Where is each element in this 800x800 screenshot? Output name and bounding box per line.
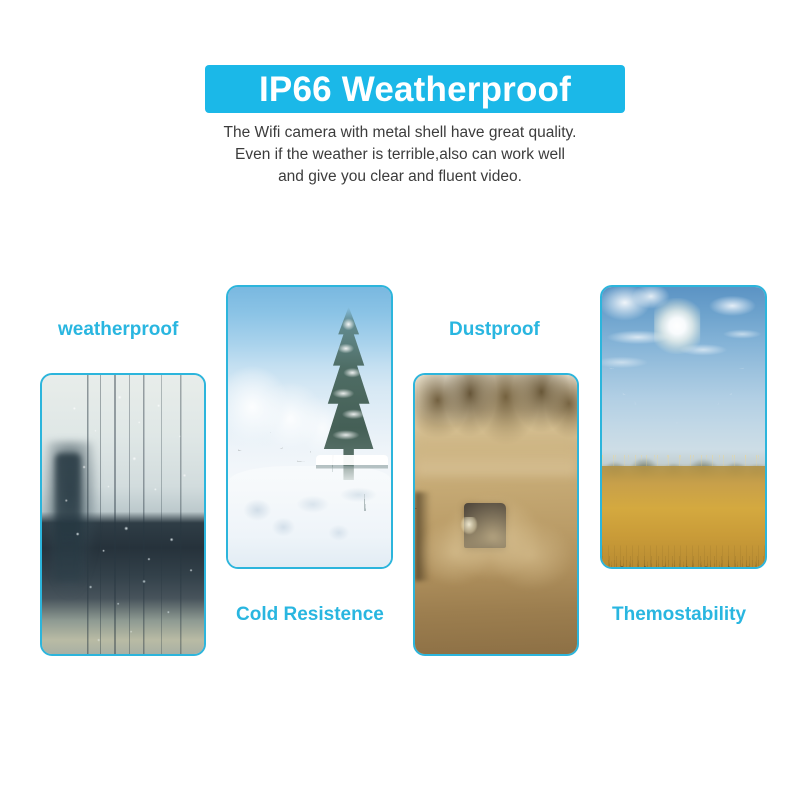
subtitle-line-3: and give you clear and fluent video. (160, 166, 640, 188)
feature-label-cold-resistence: Cold Resistence (236, 604, 384, 626)
feature-label-themostability: Themostability (612, 604, 746, 626)
title-banner: IP66 Weatherproof (205, 65, 625, 113)
subtitle-line-2: Even if the weather is terrible,also can… (160, 144, 640, 166)
snow-covered-bench (316, 455, 388, 511)
feature-image-dustproof (413, 373, 579, 656)
rain-water-droplets (42, 375, 204, 654)
page-title: IP66 Weatherproof (259, 72, 571, 107)
subtitle-line-1: The Wifi camera with metal shell have gr… (160, 122, 640, 144)
sun-tall-grass-stalks (602, 349, 765, 567)
product-feature-infographic: IP66 Weatherproof The Wifi camera with m… (0, 0, 800, 800)
feature-image-themostability (600, 285, 767, 569)
feature-label-dustproof: Dustproof (449, 319, 540, 341)
feature-image-cold-resistence (226, 285, 393, 569)
dust-cloud (415, 481, 577, 609)
feature-image-weatherproof (40, 373, 206, 656)
feature-label-weatherproof: weatherproof (58, 319, 178, 341)
subtitle-block: The Wifi camera with metal shell have gr… (160, 122, 640, 188)
sun-disc (654, 298, 700, 354)
